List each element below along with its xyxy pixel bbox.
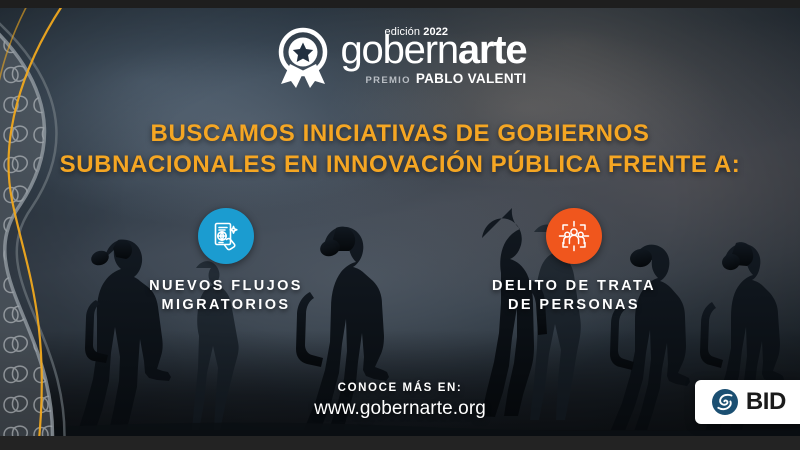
- top-letterbox-bar: [0, 0, 800, 8]
- footer-url[interactable]: www.gobernarte.org: [0, 398, 800, 420]
- theme-label-trafficking: DELITO DE TRATA DE PERSONAS: [492, 277, 656, 315]
- theme-label-migration: NUEVOS FLUJOS MIGRATORIOS: [149, 277, 303, 315]
- edition-year: 2022: [423, 26, 448, 38]
- edition-line: edición 2022: [385, 26, 449, 38]
- award-name: PABLO VALENTI: [416, 71, 527, 86]
- headline-line-2: SUBNACIONALES EN INNOVACIÓN PÚBLICA FREN…: [0, 149, 800, 180]
- poster-canvas: edición 2022 gobernarte PREMIO PABLO VAL…: [0, 0, 800, 450]
- people-crosshair-icon: [546, 208, 602, 264]
- theme-list: NUEVOS FLUJOS MIGRATORIOS: [0, 208, 800, 315]
- bid-label: BID: [746, 388, 786, 416]
- footer-kicker: CONOCE MÁS EN:: [0, 382, 800, 394]
- gobernarte-logo: edición 2022 gobernarte PREMIO PABLO VAL…: [0, 26, 800, 88]
- theme-item-migration: NUEVOS FLUJOS MIGRATORIOS: [111, 208, 341, 315]
- theme-label-trafficking-line-2: DE PERSONAS: [508, 297, 640, 313]
- theme-label-migration-line-1: NUEVOS FLUJOS: [149, 278, 303, 294]
- wordmark-bold: arte: [458, 28, 527, 72]
- bid-logo-badge: BID: [695, 380, 800, 424]
- award-prefix: PREMIO: [366, 75, 411, 86]
- theme-label-migration-line-2: MIGRATORIOS: [162, 297, 291, 313]
- edition-prefix: edición: [385, 26, 421, 38]
- passport-hand-icon: [198, 208, 254, 264]
- headline-line-1: BUSCAMOS INICIATIVAS DE GOBIERNOS: [151, 120, 650, 147]
- theme-label-trafficking-line-1: DELITO DE TRATA: [492, 278, 656, 294]
- medal-star-icon: [274, 26, 332, 88]
- footer: CONOCE MÁS EN: www.gobernarte.org: [0, 382, 800, 420]
- award-line: PREMIO PABLO VALENTI: [341, 71, 527, 86]
- theme-item-trafficking: DELITO DE TRATA DE PERSONAS: [459, 208, 689, 315]
- bottom-letterbox-bar: [0, 436, 800, 450]
- bid-swirl-icon: [711, 388, 739, 416]
- headline: BUSCAMOS INICIATIVAS DE GOBIERNOS SUBNAC…: [0, 118, 800, 180]
